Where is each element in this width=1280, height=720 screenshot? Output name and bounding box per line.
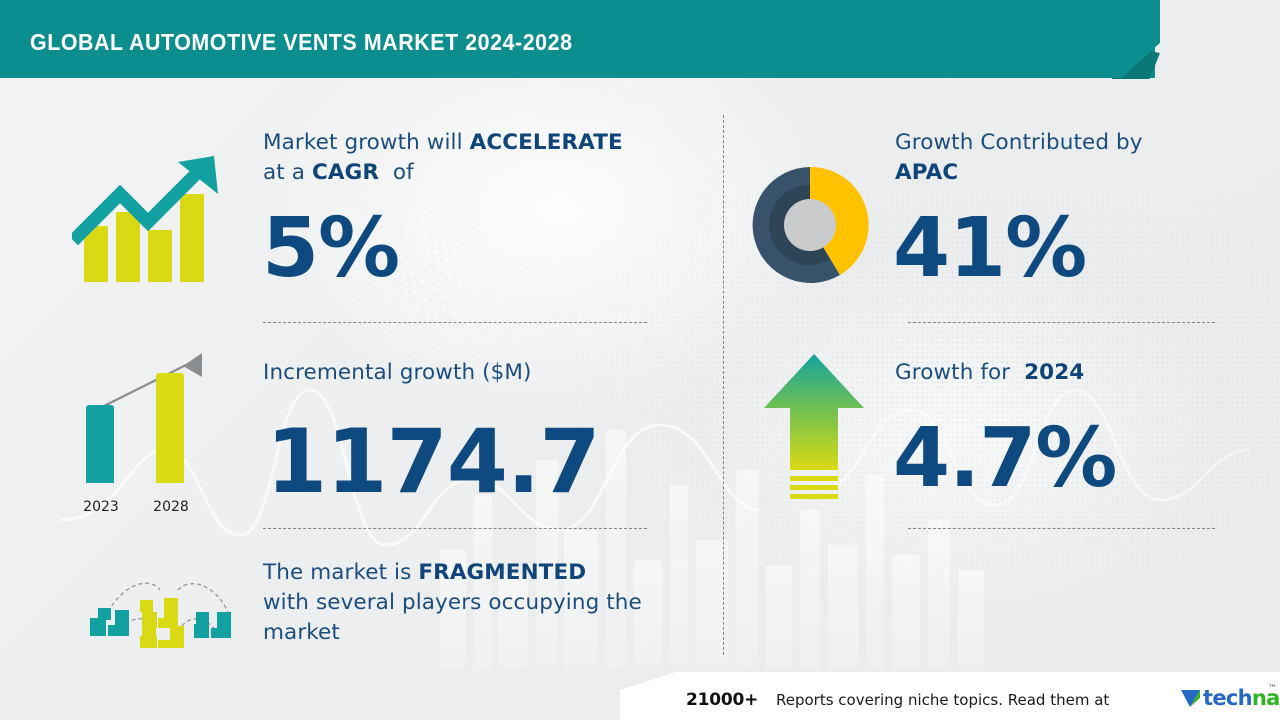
divider-right-1 — [908, 322, 1215, 323]
page-title: GLOBAL AUTOMOTIVE VENTS MARKET 2024-2028 — [30, 29, 573, 56]
growth2024-value: 4.7% — [893, 418, 1116, 500]
vertical-divider — [723, 115, 724, 655]
logo-text-tech: tech — [1203, 686, 1252, 710]
apac-lead-text: Growth Contributed byAPAC — [895, 128, 1225, 188]
growth-bar-arrow-icon — [72, 150, 232, 290]
two-bar-comparison-icon: 2023 2028 — [78, 355, 228, 515]
donut-chart-icon — [748, 163, 872, 287]
infographic-canvas: GLOBAL AUTOMOTIVE VENTS MARKET 2024-2028… — [0, 0, 1280, 720]
logo-trademark: ™ — [1268, 684, 1277, 694]
up-arrow-gradient-icon — [762, 352, 866, 502]
divider-left-2 — [263, 528, 647, 529]
bar-label-2023: 2023 — [71, 499, 131, 515]
divider-right-2 — [908, 528, 1215, 529]
footer-report-count: 21000+ — [686, 690, 758, 710]
growth2024-lead-text: Growth for 2024 — [895, 358, 1225, 388]
apac-value: 41% — [893, 208, 1086, 290]
fragmented-lead-text: The market is FRAGMENTEDwith several pla… — [263, 558, 683, 648]
bar-2028 — [156, 373, 184, 483]
bar-2023 — [86, 405, 114, 483]
cagr-value: 5% — [262, 208, 399, 290]
incremental-lead-text: Incremental growth ($M) — [263, 358, 673, 388]
bar-label-2028: 2028 — [141, 499, 201, 515]
cagr-lead-text: Market growth will ACCELERATEat a CAGR o… — [263, 128, 673, 188]
divider-left-1 — [263, 322, 647, 323]
footer-tagline: Reports covering niche topics. Read them… — [776, 691, 1109, 709]
incremental-value: 1174.7 — [266, 418, 600, 506]
city-cluster-network-icon — [78, 570, 243, 650]
technavio-logo-mark[interactable] — [1180, 686, 1202, 710]
